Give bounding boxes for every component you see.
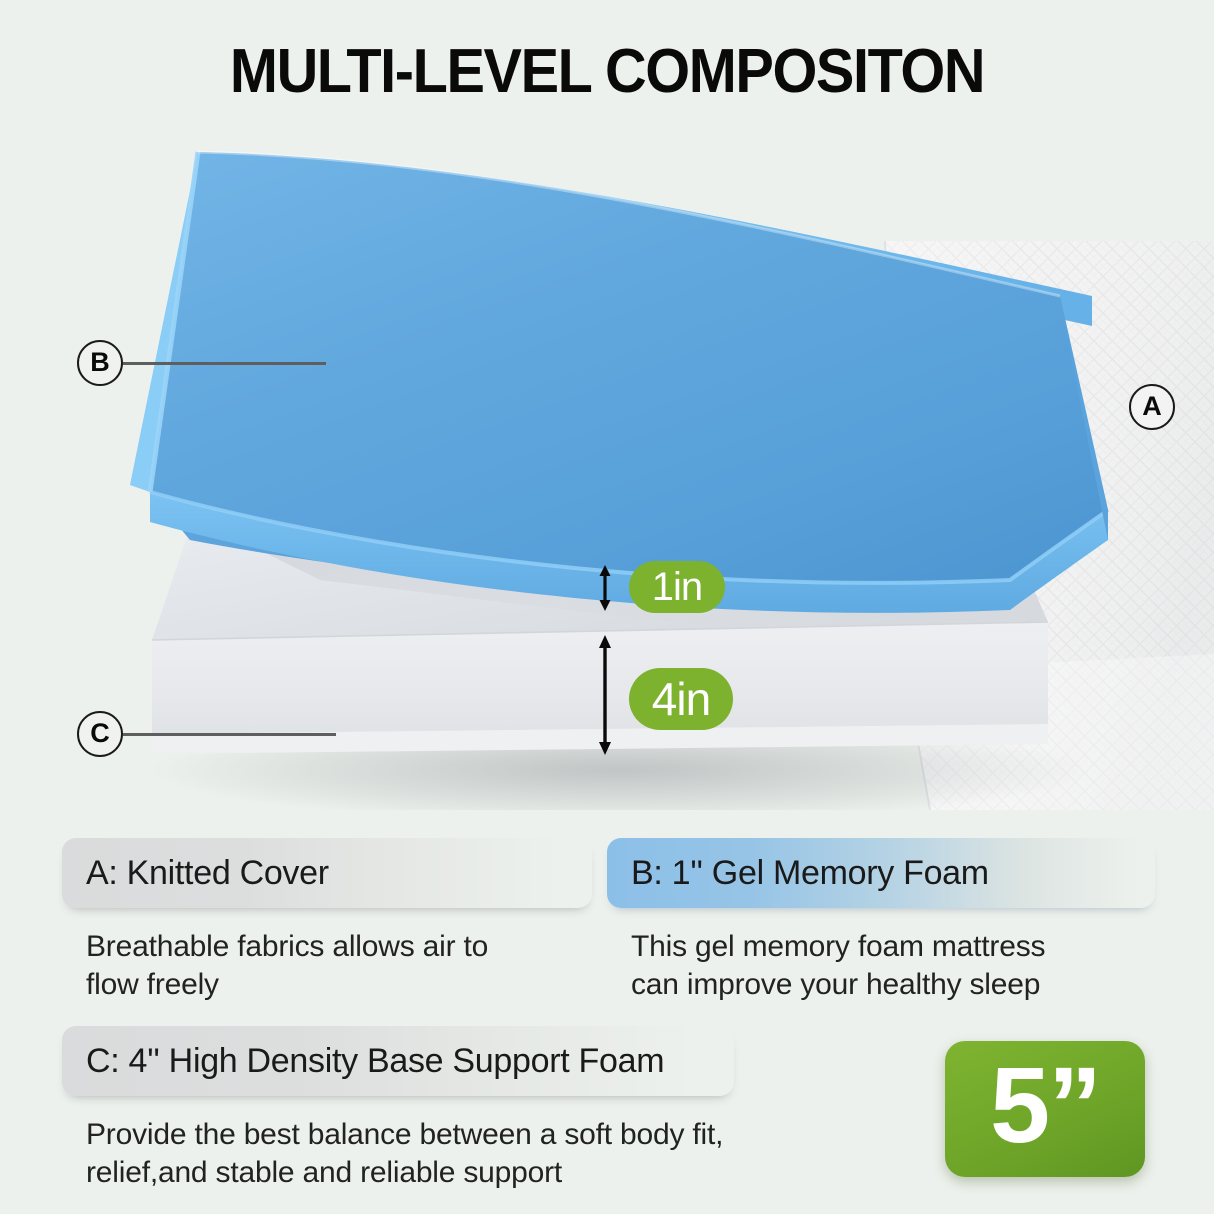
info-card-knitted-cover: A: Knitted Cover Breathable fabrics allo… [62,838,592,1005]
callout-leader-line-c [123,733,336,736]
info-card-heading-a: A: Knitted Cover [62,838,592,908]
dimension-badge-1in: 1in [629,561,725,613]
dimension-arrow-4in [592,634,618,756]
info-card-body-c: Provide the best balance between a soft … [62,1116,734,1193]
gel-memory-foam-layer [130,152,1108,613]
callout-marker-b[interactable]: B [77,340,123,386]
callout-leader-line-b [123,362,326,365]
page-title: MULTI-LEVEL COMPOSITON [42,36,1171,107]
info-card-body-a: Breathable fabrics allows air to flow fr… [62,928,592,1005]
total-thickness-badge: 5” [945,1041,1145,1177]
callout-marker-c[interactable]: C [77,711,123,757]
callout-marker-a[interactable]: A [1129,384,1175,430]
info-card-gel-memory-foam: B: 1'' Gel Memory Foam This gel memory f… [607,838,1155,1005]
dimension-arrow-1in [592,564,618,612]
dimension-badge-4in: 4in [629,668,733,730]
info-card-base-support-foam: C: 4'' High Density Base Support Foam Pr… [62,1026,734,1193]
info-card-heading-c: C: 4'' High Density Base Support Foam [62,1026,734,1096]
info-card-heading-b: B: 1'' Gel Memory Foam [607,838,1155,908]
info-card-body-b: This gel memory foam mattress can improv… [607,928,1155,1005]
